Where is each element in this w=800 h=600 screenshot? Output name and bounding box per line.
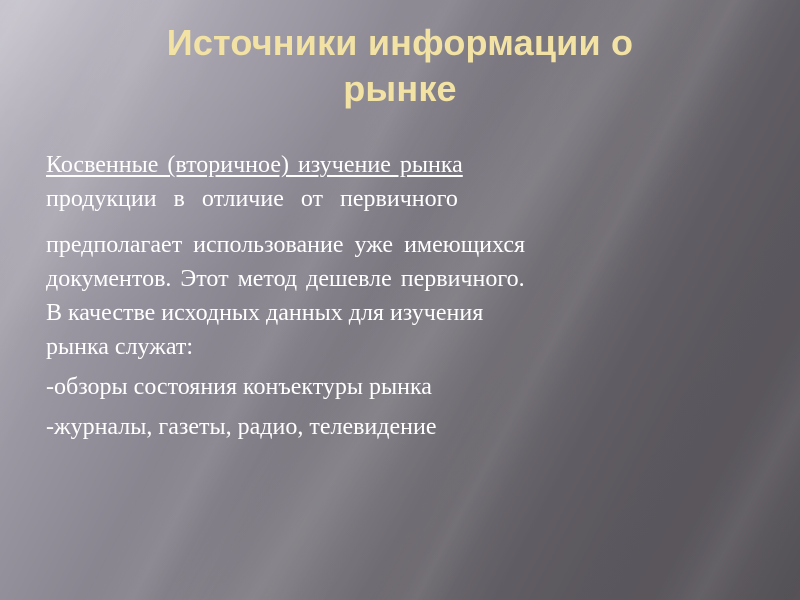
body-line-4: документов. Этот метод дешевле первичног… <box>46 262 746 296</box>
slide-content: Источники информации о рынке Косвенные (… <box>0 0 800 600</box>
slide-body: Косвенные (вторичное) изучение рынка про… <box>46 148 746 444</box>
slide-title-line-1: Источники информации о <box>78 20 722 66</box>
body-list-item-2: -журналы, газеты, радио, телевидение <box>46 410 746 444</box>
body-line-6: рынка служат: <box>46 330 746 364</box>
body-line-2: продукции в отличие от первичного <box>46 182 746 216</box>
body-line-3: предполагает использование уже имеющихся <box>46 228 746 262</box>
slide-title: Источники информации о рынке <box>78 20 722 112</box>
presentation-slide: Источники информации о рынке Косвенные (… <box>0 0 800 600</box>
slide-title-line-2: рынке <box>78 66 722 112</box>
body-line-1: Косвенные (вторичное) изучение рынка <box>46 148 746 182</box>
body-line-5: В качестве исходных данных для изучения <box>46 296 746 330</box>
body-list-item-1: -обзоры состояния конъектуры рынка <box>46 370 746 404</box>
